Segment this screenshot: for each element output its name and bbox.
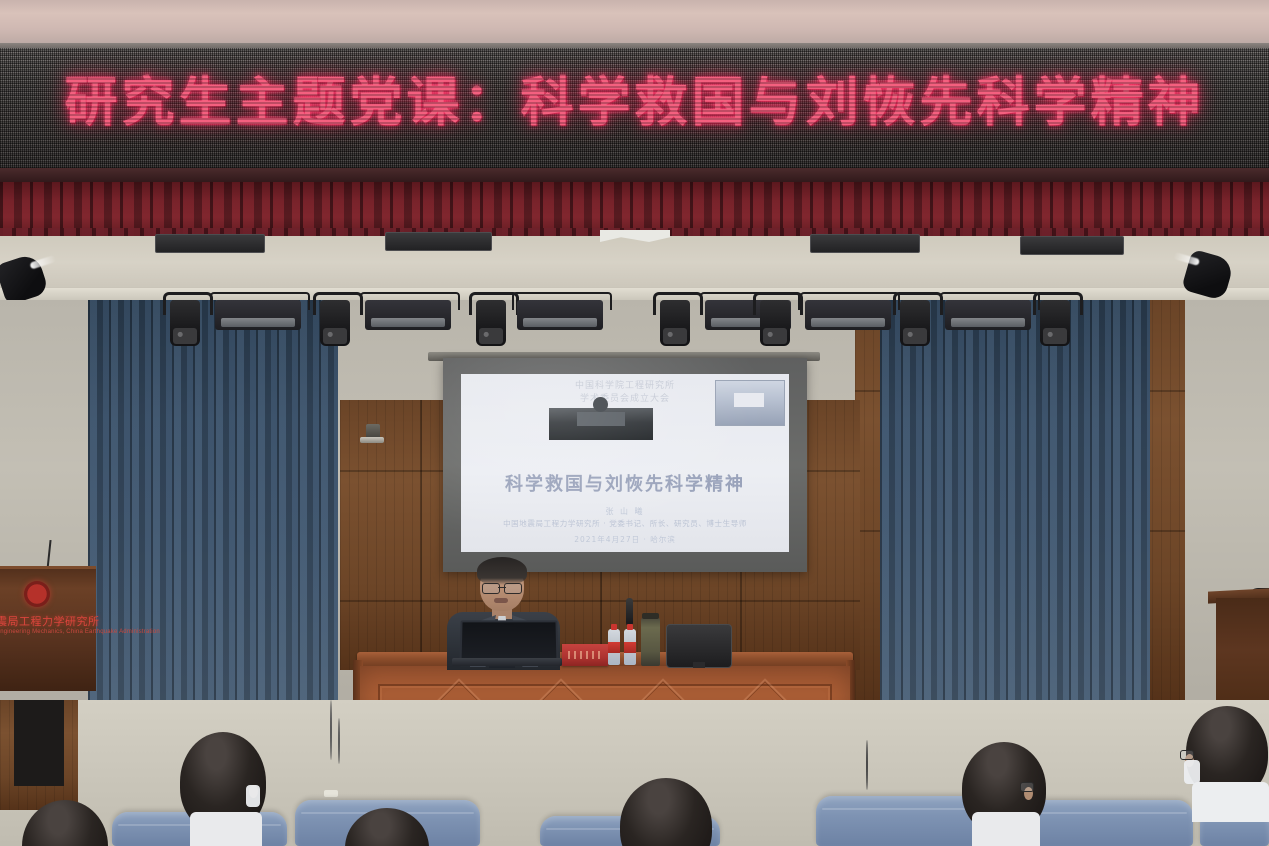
- slide-inset-video: [715, 380, 785, 426]
- name-card: [562, 644, 608, 666]
- eyeglasses-icon: [1020, 782, 1034, 792]
- audience-collar: [972, 812, 1040, 846]
- speaker-mouth: [494, 598, 508, 603]
- slide-author: 张 山 曦: [461, 506, 789, 517]
- fresnel-light-icon: [945, 300, 1031, 330]
- fresnel-light-icon: [365, 300, 451, 330]
- fresnel-light-icon: [215, 300, 301, 330]
- slide-title: 科学救国与刘恢先科学精神: [461, 470, 789, 496]
- eyeglasses-icon: [1180, 750, 1194, 760]
- ceiling-speaker-icon: [385, 232, 492, 251]
- door-opening: [14, 700, 64, 786]
- panel-seam: [420, 400, 422, 670]
- par-light-icon: [1040, 300, 1070, 346]
- par-light-icon: [760, 300, 790, 346]
- led-banner-text: 研究生主题党课：科学救国与刘恢先科学精神: [0, 60, 1269, 136]
- slide-affiliation: 中国地震局工程力学研究所 · 党委书记、所长、研究员、博士生导师: [461, 518, 789, 529]
- presentation-slide: 中国科学院工程研究所 学术委员会成立大会 科学救国与刘恢先科学精神 张 山 曦 …: [461, 374, 789, 552]
- monitor-stand: [693, 662, 705, 668]
- par-light-icon: [900, 300, 930, 346]
- ceiling-speaker-icon: [1020, 236, 1124, 255]
- eyeglasses-icon: [481, 583, 523, 592]
- slide-date: 2021年4月27日 · 哈尔滨: [461, 534, 789, 545]
- par-light-icon: [660, 300, 690, 346]
- thermos-icon: [641, 618, 660, 666]
- floor-cable: [330, 700, 332, 760]
- ceiling: [0, 0, 1269, 47]
- water-bottle-icon: [608, 629, 620, 665]
- panel-seam: [340, 600, 860, 602]
- podium-chinese-text: 震局工程力学研究所: [0, 613, 96, 629]
- projection-screen: 中国科学院工程研究所 学术委员会成立大会 科学救国与刘恢先科学精神 张 山 曦 …: [443, 358, 807, 572]
- stage-curtain-left: [88, 300, 338, 700]
- lecture-hall-photograph: 研究生主题党课：科学救国与刘恢先科学精神: [0, 0, 1269, 846]
- podium-left: 震局工程力学研究所 Engineering Mechanics, China E…: [0, 566, 96, 691]
- slide-photo-image: [549, 408, 653, 440]
- podium-english-text: Engineering Mechanics, China Earthquake …: [0, 629, 96, 635]
- water-bottle-icon: [624, 629, 636, 665]
- door-handle-icon: [626, 598, 633, 626]
- institute-emblem-icon: [24, 581, 50, 607]
- audience-collar: [190, 812, 262, 846]
- par-light-icon: [320, 300, 350, 346]
- floor-cable: [338, 718, 340, 764]
- speaker-hair: [477, 557, 527, 585]
- face-mask-icon: [246, 785, 260, 807]
- laptop-base: [452, 658, 562, 666]
- fresnel-light-icon: [805, 300, 891, 330]
- audience-collar: [1192, 782, 1269, 822]
- par-light-icon: [476, 300, 506, 346]
- cable-connector: [324, 790, 338, 797]
- stage-curtain-right: [880, 300, 1150, 700]
- ceiling-speaker-icon: [810, 234, 920, 253]
- face-mask-icon: [1184, 760, 1200, 784]
- fresnel-light-icon: [517, 300, 603, 330]
- ceiling-speaker-icon: [155, 234, 265, 253]
- floor-cable: [866, 740, 868, 790]
- par-light-icon: [170, 300, 200, 346]
- door-handle-icon: [360, 437, 384, 443]
